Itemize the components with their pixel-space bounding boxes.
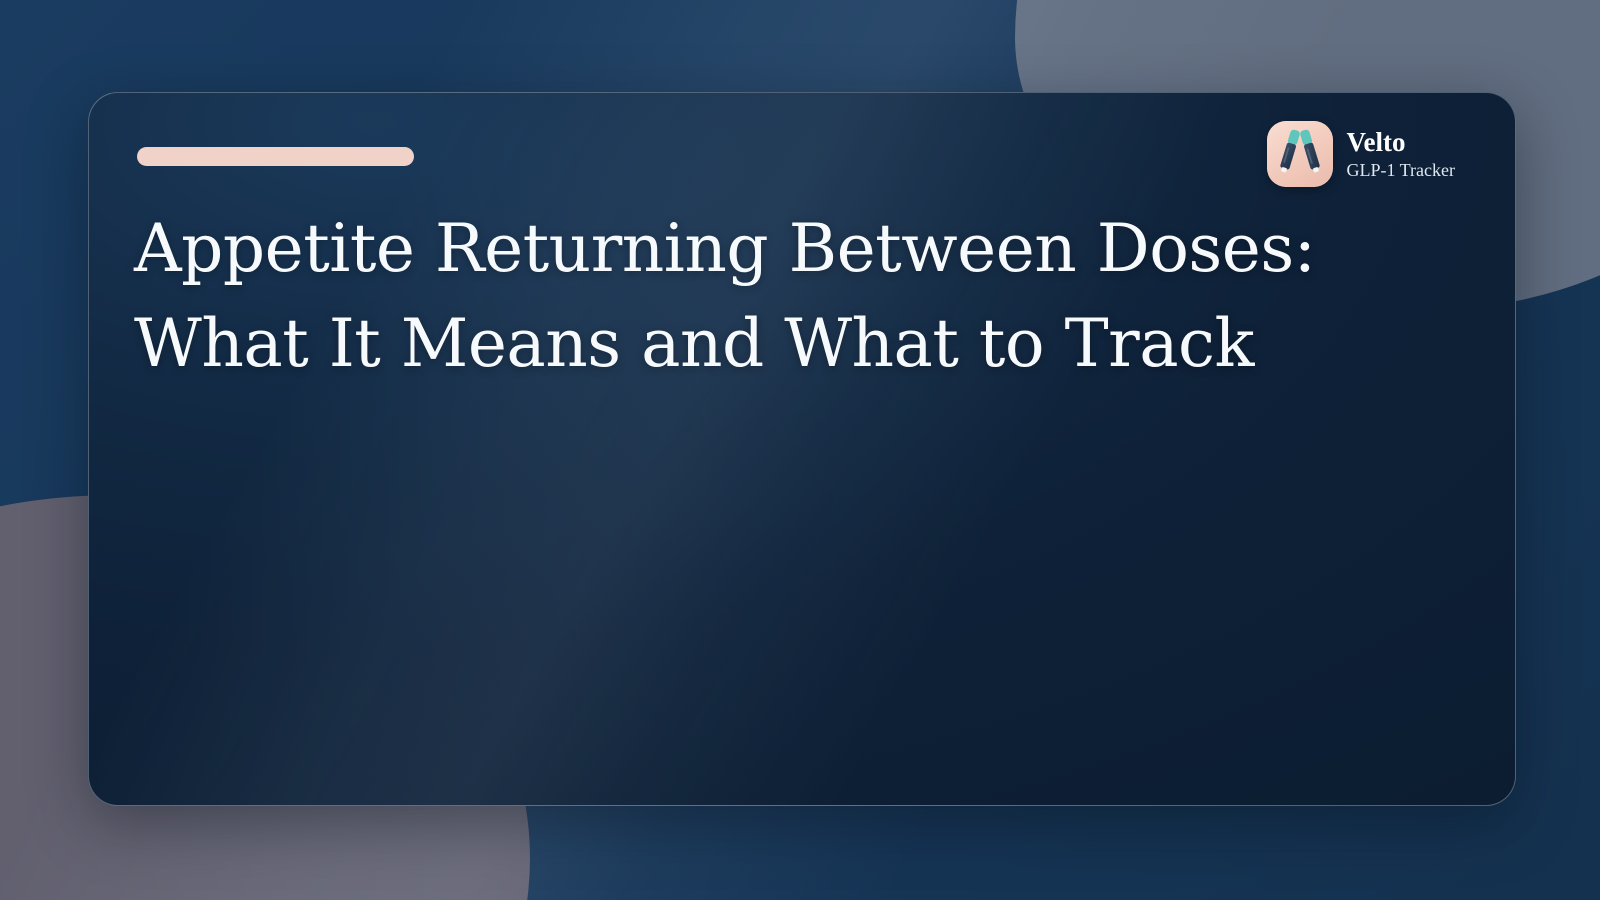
accent-pill-bar	[137, 147, 414, 166]
brand-lockup: Velto GLP-1 Tracker	[1267, 121, 1456, 187]
page-title: Appetite Returning Between Doses: What I…	[134, 201, 1434, 391]
brand-text-group: Velto GLP-1 Tracker	[1347, 129, 1456, 179]
brand-name: Velto	[1347, 129, 1456, 156]
hero-card: Velto GLP-1 Tracker Appetite Returning B…	[88, 92, 1516, 806]
velto-pens-v-logo-icon	[1267, 121, 1333, 187]
brand-tagline: GLP-1 Tracker	[1347, 161, 1456, 179]
